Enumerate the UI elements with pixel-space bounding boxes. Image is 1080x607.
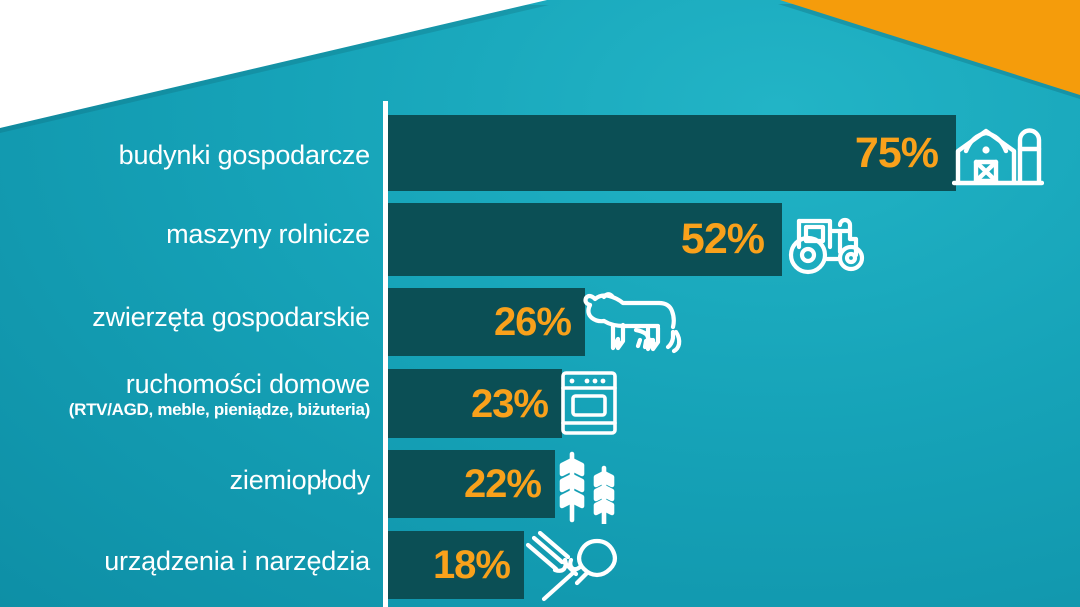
- bar-zwierzeta-gospodarskie: 26%: [388, 288, 585, 356]
- tractor-icon: [786, 205, 870, 277]
- bar-value-label: 23%: [471, 384, 562, 424]
- pitchfork-shovel-icon: [522, 531, 618, 603]
- infographic-canvas: budynki gospodarcze 75%: [0, 0, 1080, 607]
- bar-urzadzenia-i-narzedzia: 18%: [388, 531, 524, 599]
- category-label-text: ziemiopłody: [0, 466, 370, 494]
- bar-value-label: 75%: [855, 132, 956, 175]
- category-label-budynki-gospodarcze: budynki gospodarcze: [0, 141, 370, 169]
- bar-ziemioplody: 22%: [388, 450, 555, 518]
- category-label-zwierzeta-gospodarskie: zwierzęta gospodarskie: [0, 303, 370, 331]
- barn-silo-icon: [952, 120, 1044, 188]
- category-label-maszyny-rolnicze: maszyny rolnicze: [0, 220, 370, 248]
- category-label-text: maszyny rolnicze: [0, 220, 370, 248]
- bar-value-label: 18%: [433, 545, 524, 585]
- category-label-ziemioplody: ziemiopłody: [0, 466, 370, 494]
- stove-icon: [559, 369, 619, 437]
- bar-budynki-gospodarcze: 75%: [388, 115, 956, 191]
- bar-maszyny-rolnicze: 52%: [388, 203, 782, 276]
- bar-value-label: 22%: [464, 464, 555, 504]
- bar-ruchomosci-domowe: 23%: [388, 369, 562, 438]
- category-sublabel-text: (RTV/AGD, meble, pieniądze, biżuteria): [0, 401, 370, 419]
- category-label-text: urządzenia i narzędzia: [0, 547, 370, 575]
- category-label-text: ruchomości domowe: [0, 370, 370, 398]
- bar-value-label: 26%: [494, 302, 585, 342]
- category-label-text: zwierzęta gospodarskie: [0, 303, 370, 331]
- category-label-ruchomosci-domowe: ruchomości domowe (RTV/AGD, meble, pieni…: [0, 370, 370, 419]
- horizontal-bar-chart: budynki gospodarcze 75%: [0, 0, 1080, 607]
- wheat-icon: [551, 448, 623, 524]
- bar-value-label: 52%: [681, 218, 782, 261]
- category-label-text: budynki gospodarcze: [0, 141, 370, 169]
- category-label-urzadzenia-i-narzedzia: urządzenia i narzędzia: [0, 547, 370, 575]
- cow-icon: [580, 288, 684, 356]
